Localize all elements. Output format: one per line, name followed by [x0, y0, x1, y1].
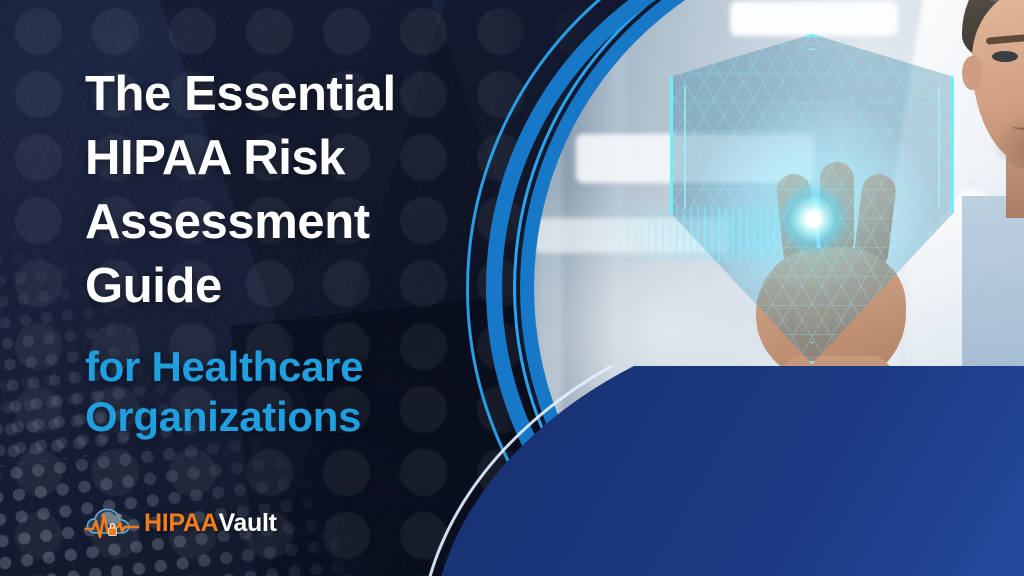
eye-left: [992, 51, 1018, 62]
subhead-line-1: for Healthcare: [85, 342, 515, 392]
blog-banner: The Essential HIPAA Risk Assessment Guid…: [0, 0, 1024, 576]
subhead-line-2: Organizations: [85, 392, 515, 442]
cloud-heartbeat-lock-icon: [84, 503, 140, 543]
logo-brand-secondary: Vault: [218, 509, 276, 538]
logo-wordmark: HIPAA Vault: [144, 509, 277, 538]
headline-line-4: Guide: [85, 254, 515, 318]
logo-brand-primary: HIPAA: [144, 509, 218, 538]
headline-line-1: The Essential: [85, 62, 515, 126]
coat-cuff: [752, 413, 929, 519]
headline-line-2: HIPAA Risk: [85, 126, 515, 190]
headline-block: The Essential HIPAA Risk Assessment Guid…: [85, 62, 515, 442]
hero-photo-region: [464, 0, 1024, 576]
photo-circle-mask: [534, 0, 1024, 576]
glow-touchpoint: [778, 184, 848, 254]
page-title: The Essential HIPAA Risk Assessment Guid…: [85, 62, 515, 318]
page-subtitle: for Healthcare Organizations: [85, 342, 515, 442]
facial-stubble: [980, 94, 1024, 172]
headline-line-3: Assessment: [85, 190, 515, 254]
hologram-shield-stage: [646, 34, 976, 374]
data-stream-effect: [550, 206, 780, 262]
hipaavault-logo[interactable]: HIPAA Vault: [84, 503, 277, 543]
